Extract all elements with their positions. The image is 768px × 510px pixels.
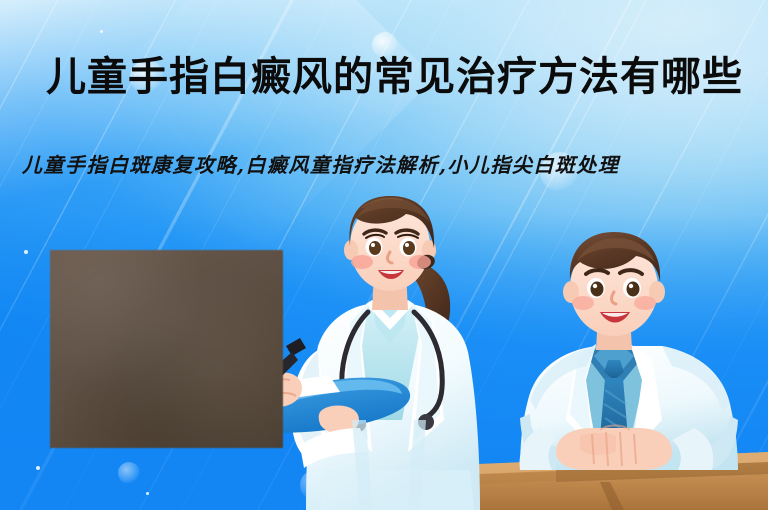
male-doctor bbox=[520, 232, 738, 470]
clasped-hands bbox=[556, 426, 672, 471]
male-doctor-head bbox=[563, 232, 665, 336]
page-subtitle: 儿童手指白斑康复攻略,白癜风童指疗法解析,小儿指尖白斑处理 bbox=[22, 150, 744, 180]
page-title: 儿童手指白癜风的常见治疗方法有哪些 bbox=[46, 55, 743, 99]
banner-canvas: 儿童手指白癜风的常见治疗方法有哪些 儿童手指白斑康复攻略,白癜风童指疗法解析,小… bbox=[0, 0, 768, 510]
content-image-placeholder bbox=[50, 250, 283, 448]
